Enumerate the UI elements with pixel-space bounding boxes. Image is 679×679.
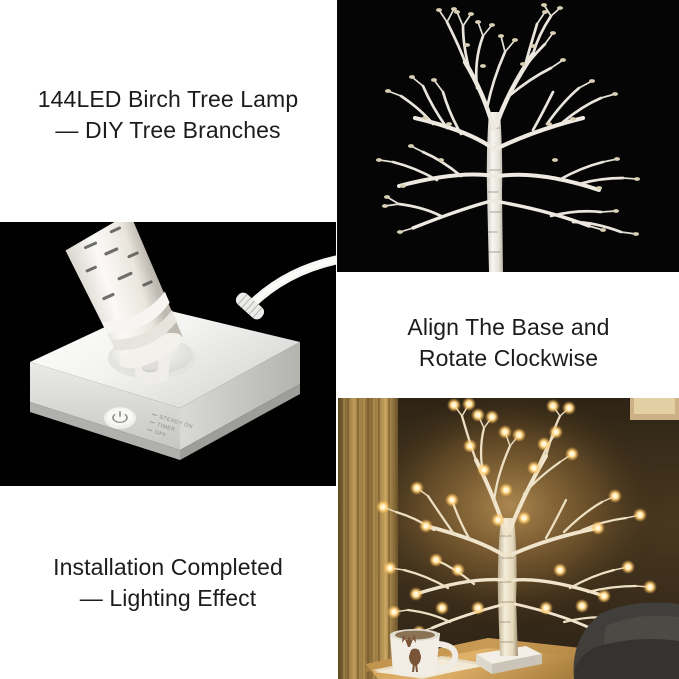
base-assembly-illustration: STEADY ON TIMER OFF bbox=[0, 222, 336, 486]
caption-installed-line1: Installation Completed bbox=[0, 552, 336, 583]
wall-art bbox=[630, 398, 679, 420]
room-scene-illustration bbox=[338, 398, 679, 679]
photo-base-assembly: STEADY ON TIMER OFF bbox=[0, 222, 336, 486]
caption-title: 144LED Birch Tree Lamp — DIY Tree Branch… bbox=[0, 84, 336, 146]
caption-installed: Installation Completed — Lighting Effect bbox=[0, 552, 336, 614]
caption-installed-line2: — Lighting Effect bbox=[0, 583, 336, 614]
caption-align-line1: Align The Base and bbox=[338, 312, 679, 343]
caption-align: Align The Base and Rotate Clockwise bbox=[338, 312, 679, 374]
caption-title-line2: — DIY Tree Branches bbox=[0, 115, 336, 146]
infographic-sheet: 144LED Birch Tree Lamp — DIY Tree Branch… bbox=[0, 0, 679, 679]
photo-room-scene bbox=[338, 398, 679, 679]
photo-tree-unlit bbox=[337, 0, 679, 272]
tree-unlit-illustration bbox=[337, 0, 679, 272]
curtain bbox=[338, 398, 398, 679]
caption-title-line1: 144LED Birch Tree Lamp bbox=[0, 84, 336, 115]
caption-align-line2: Rotate Clockwise bbox=[338, 343, 679, 374]
